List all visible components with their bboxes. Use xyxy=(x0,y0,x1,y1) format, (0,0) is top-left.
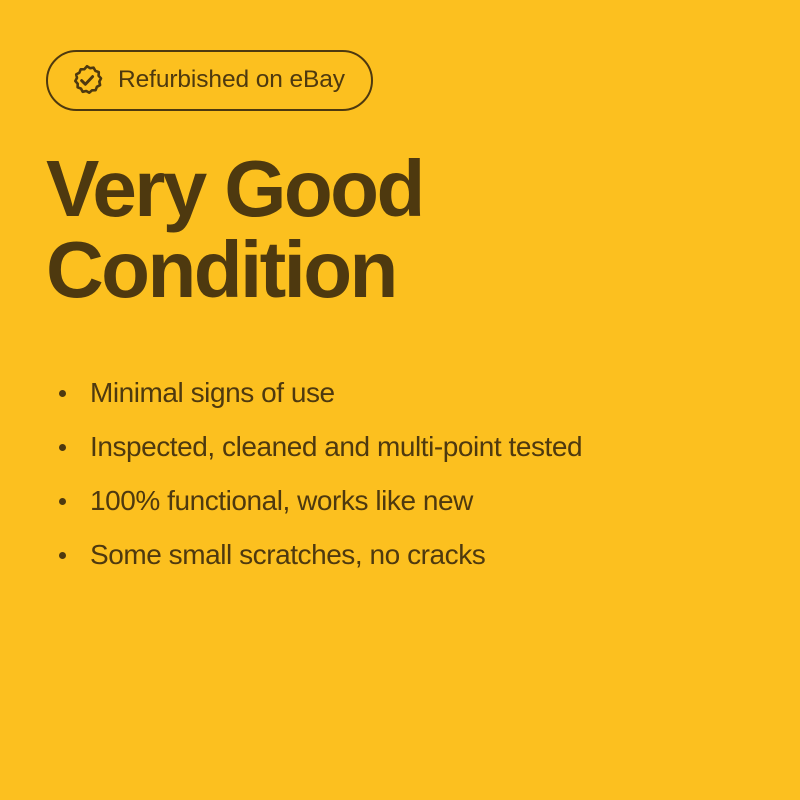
verified-check-badge-icon xyxy=(70,64,104,98)
condition-feature-list: Minimal signs of use Inspected, cleaned … xyxy=(46,366,766,582)
list-item: Some small scratches, no cracks xyxy=(46,528,766,582)
refurbished-badge-label: Refurbished on eBay xyxy=(118,68,345,93)
page-title-line-1: Very Good xyxy=(46,148,746,229)
refurbished-condition-card: Refurbished on eBay Very Good Condition … xyxy=(0,0,800,800)
list-item-label: Inspected, cleaned and multi-point teste… xyxy=(90,433,582,461)
refurbished-badge: Refurbished on eBay xyxy=(46,50,373,111)
bullet-dot-icon xyxy=(59,498,66,505)
list-item-label: Some small scratches, no cracks xyxy=(90,541,485,569)
list-item: 100% functional, works like new xyxy=(46,474,766,528)
list-item-label: Minimal signs of use xyxy=(90,379,335,407)
list-item-label: 100% functional, works like new xyxy=(90,487,473,515)
page-title: Very Good Condition xyxy=(46,148,746,310)
page-title-line-2: Condition xyxy=(46,229,746,310)
bullet-dot-icon xyxy=(59,552,66,559)
bullet-dot-icon xyxy=(59,390,66,397)
list-item: Minimal signs of use xyxy=(46,366,766,420)
bullet-dot-icon xyxy=(59,444,66,451)
list-item: Inspected, cleaned and multi-point teste… xyxy=(46,420,766,474)
